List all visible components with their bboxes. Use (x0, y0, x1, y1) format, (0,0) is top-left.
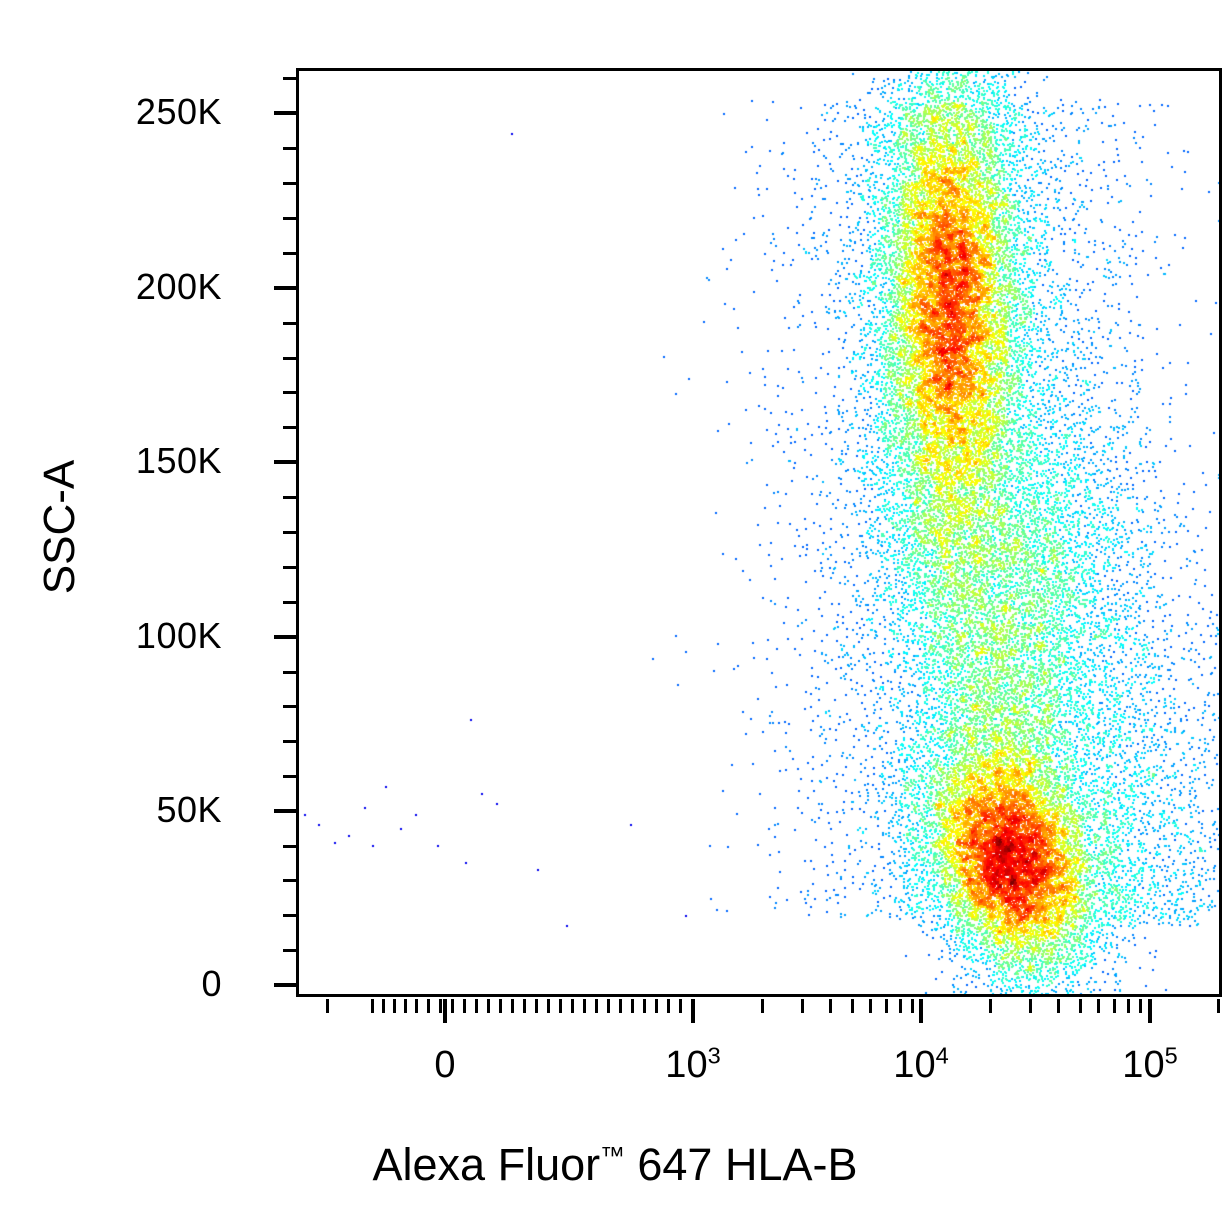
y-tick-minor (283, 845, 296, 848)
y-tick-label: 200K (136, 269, 222, 305)
y-tick-minor (283, 426, 296, 429)
x-tick-minor (1097, 999, 1100, 1013)
y-tick-label: 250K (136, 94, 222, 130)
y-tick-minor (283, 391, 296, 394)
x-tick-minor (1057, 999, 1060, 1013)
x-tick-minor (761, 999, 764, 1013)
x-axis-title-main: Alexa Fluor (373, 1139, 601, 1190)
x-tick-minor (643, 999, 646, 1013)
x-tick-minor (371, 999, 374, 1013)
x-tick-minor (851, 999, 854, 1013)
x-tick-major (691, 999, 695, 1023)
x-tick-minor (1217, 999, 1220, 1013)
flow-cytometry-figure: SSC-A Alexa Fluor™ 647 HLA-B 050K100K150… (0, 0, 1230, 1230)
x-tick-minor (899, 999, 902, 1013)
x-tick-minor (869, 999, 872, 1013)
y-tick-minor (283, 147, 296, 150)
x-tick-label: 105 (1122, 1046, 1177, 1084)
x-tick-minor (667, 999, 670, 1013)
x-tick-minor (427, 999, 430, 1013)
y-tick-label: 150K (136, 443, 222, 479)
x-axis-title: Alexa Fluor™ 647 HLA-B (0, 1142, 1230, 1187)
y-tick-minor (283, 496, 296, 499)
y-tick-major (274, 111, 296, 115)
x-tick-minor (1113, 999, 1116, 1013)
y-tick-major (274, 286, 296, 290)
x-tick-minor (559, 999, 562, 1013)
y-tick-minor (283, 671, 296, 674)
y-tick-label: 50K (156, 792, 222, 828)
x-tick-minor (475, 999, 478, 1013)
x-tick-minor (583, 999, 586, 1013)
y-tick-minor (283, 601, 296, 604)
x-tick-minor (571, 999, 574, 1013)
x-tick-minor (451, 999, 454, 1013)
y-tick-minor (283, 217, 296, 220)
x-tick-minor (829, 999, 832, 1013)
y-tick-major (274, 635, 296, 639)
y-tick-major (274, 809, 296, 813)
y-tick-minor (283, 77, 296, 80)
y-tick-major (274, 983, 296, 987)
y-tick-minor (283, 566, 296, 569)
x-axis-title-rest: 647 HLA-B (625, 1139, 858, 1190)
x-tick-minor (463, 999, 466, 1013)
x-tick-minor (655, 999, 658, 1013)
x-tick-minor (523, 999, 526, 1013)
x-tick-minor (1139, 999, 1142, 1013)
y-axis-title: SSC-A (38, 427, 82, 627)
density-scatter-plot[interactable] (299, 71, 1219, 994)
x-tick-label: 104 (893, 1046, 948, 1084)
x-tick-label: 103 (665, 1046, 720, 1084)
x-tick-major (443, 999, 447, 1023)
x-tick-minor (415, 999, 418, 1013)
x-tick-minor (631, 999, 634, 1013)
y-tick-minor (283, 322, 296, 325)
y-tick-major (274, 460, 296, 464)
trademark-symbol: ™ (600, 1143, 625, 1170)
y-tick-minor (283, 879, 296, 882)
x-tick-minor (1029, 999, 1032, 1013)
x-tick-minor (989, 999, 992, 1013)
x-tick-major (1148, 999, 1152, 1023)
y-tick-minor (283, 182, 296, 185)
y-tick-label: 0 (201, 966, 222, 1002)
y-tick-minor (283, 914, 296, 917)
x-tick-minor (1079, 999, 1082, 1013)
x-tick-minor (511, 999, 514, 1013)
plot-area[interactable] (296, 68, 1222, 997)
x-tick-minor (607, 999, 610, 1013)
y-tick-minor (283, 775, 296, 778)
x-tick-minor (1127, 999, 1130, 1013)
x-tick-minor (547, 999, 550, 1013)
x-tick-major (919, 999, 923, 1023)
y-tick-minor (283, 252, 296, 255)
y-tick-minor (283, 740, 296, 743)
x-tick-minor (439, 999, 442, 1013)
x-tick-minor (326, 999, 329, 1013)
x-tick-minor (911, 999, 914, 1013)
x-tick-minor (382, 999, 385, 1013)
x-tick-minor (619, 999, 622, 1013)
y-tick-minor (283, 949, 296, 952)
x-tick-minor (404, 999, 407, 1013)
x-tick-minor (679, 999, 682, 1013)
y-tick-minor (283, 531, 296, 534)
x-tick-minor (499, 999, 502, 1013)
y-tick-label: 100K (136, 618, 222, 654)
x-tick-minor (801, 999, 804, 1013)
y-tick-minor (283, 357, 296, 360)
x-tick-minor (535, 999, 538, 1013)
y-tick-minor (283, 705, 296, 708)
x-tick-minor (885, 999, 888, 1013)
x-tick-minor (393, 999, 396, 1013)
x-tick-minor (487, 999, 490, 1013)
x-tick-minor (595, 999, 598, 1013)
x-tick-label: 0 (434, 1046, 455, 1084)
